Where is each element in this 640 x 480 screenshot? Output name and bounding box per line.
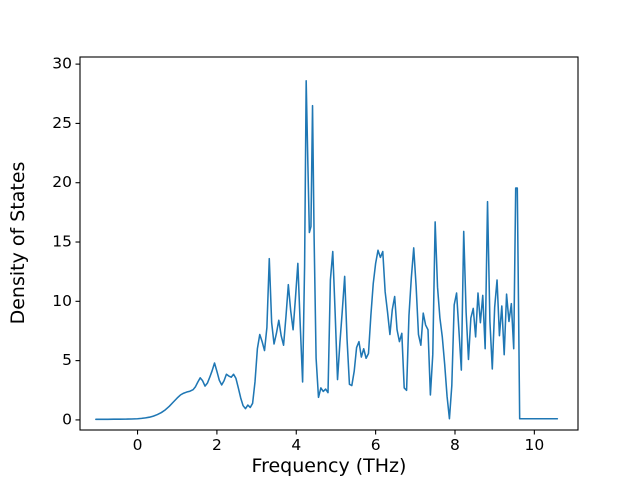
y-tick-label: 20 — [52, 173, 72, 191]
x-tick-label: 8 — [450, 436, 460, 454]
x-tick-label: 10 — [524, 436, 544, 454]
y-tick-label: 15 — [52, 233, 72, 251]
y-axis-title: Density of States — [7, 162, 29, 325]
y-tick-label: 25 — [52, 114, 72, 132]
y-tick-label: 30 — [52, 55, 72, 73]
y-tick-label: 5 — [62, 351, 72, 369]
x-tick-label: 4 — [291, 436, 301, 454]
x-axis-title: Frequency (THz) — [252, 455, 407, 477]
x-tick-label: 0 — [133, 436, 143, 454]
y-tick-label: 10 — [52, 292, 72, 310]
x-tick-label: 2 — [212, 436, 222, 454]
x-tick-label: 6 — [371, 436, 381, 454]
matplotlib-figure: 0246810 051015202530 Frequency (THz) Den… — [0, 0, 640, 480]
dos-line-chart: 0246810 051015202530 Frequency (THz) Den… — [0, 0, 640, 480]
y-tick-label: 0 — [62, 410, 72, 428]
